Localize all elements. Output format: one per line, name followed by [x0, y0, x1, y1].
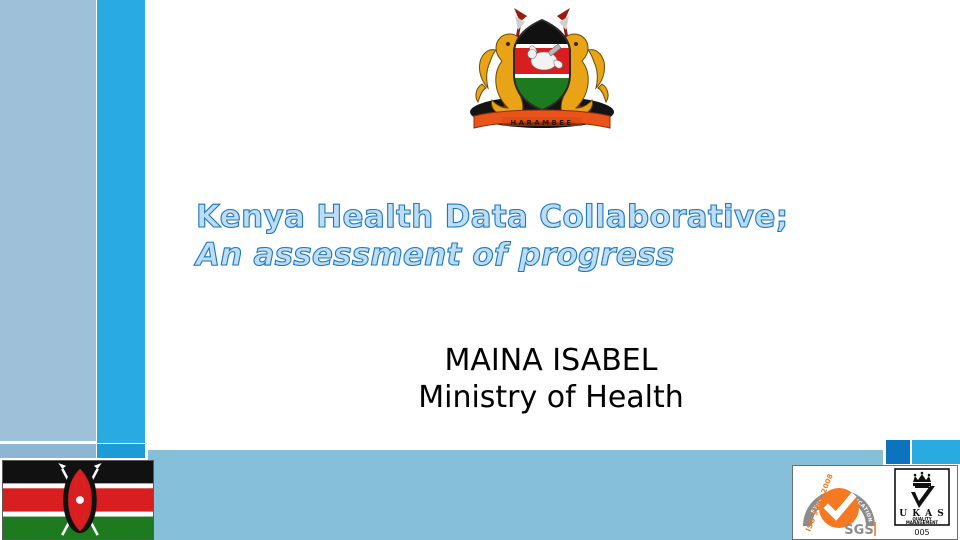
certification-logos-panel: SYSTEM CERTIFICATION ISO 9001:2008 SGS — [792, 465, 958, 540]
ukas-management-text: MANAGEMENT — [906, 520, 939, 525]
accent-block-cyan — [912, 440, 960, 464]
sidebar-band-pale-stub — [0, 444, 96, 458]
presenter-organization: Ministry of Health — [148, 379, 954, 416]
kenya-flag-icon — [2, 460, 154, 540]
sidebar-band-cyan — [97, 0, 145, 443]
sidebar-band-cyan-stub — [97, 444, 145, 458]
slide-title: Kenya Health Data Collaborative; An asse… — [196, 198, 796, 274]
presenter-block: MAINA ISABEL Ministry of Health — [148, 342, 954, 416]
ukas-number: 005 — [914, 528, 929, 537]
kenya-coat-of-arms-icon: HARAMBEE — [452, 4, 632, 136]
sgs-iso-certification-icon: SYSTEM CERTIFICATION ISO 9001:2008 SGS — [797, 468, 887, 538]
sidebar-band-pale — [0, 0, 96, 441]
crown-icon — [913, 471, 931, 487]
presentation-slide: HARAMBEE Kenya Health Data Collaborative… — [0, 0, 960, 540]
bottom-bar — [148, 450, 883, 540]
bottom-bar-hairline — [148, 444, 883, 449]
harambee-text: HARAMBEE — [510, 119, 573, 127]
accent-block-dark-blue — [886, 440, 910, 464]
title-line-1: Kenya Health Data Collaborative; — [196, 198, 796, 236]
sgs-wordmark: SGS — [844, 523, 873, 538]
ukas-certification-icon: U K A S QUALITY MANAGEMENT 005 — [891, 468, 953, 538]
presenter-name: MAINA ISABEL — [148, 342, 954, 379]
title-line-2: An assessment of progress — [196, 236, 796, 274]
harambee-banner: HARAMBEE — [474, 110, 610, 128]
